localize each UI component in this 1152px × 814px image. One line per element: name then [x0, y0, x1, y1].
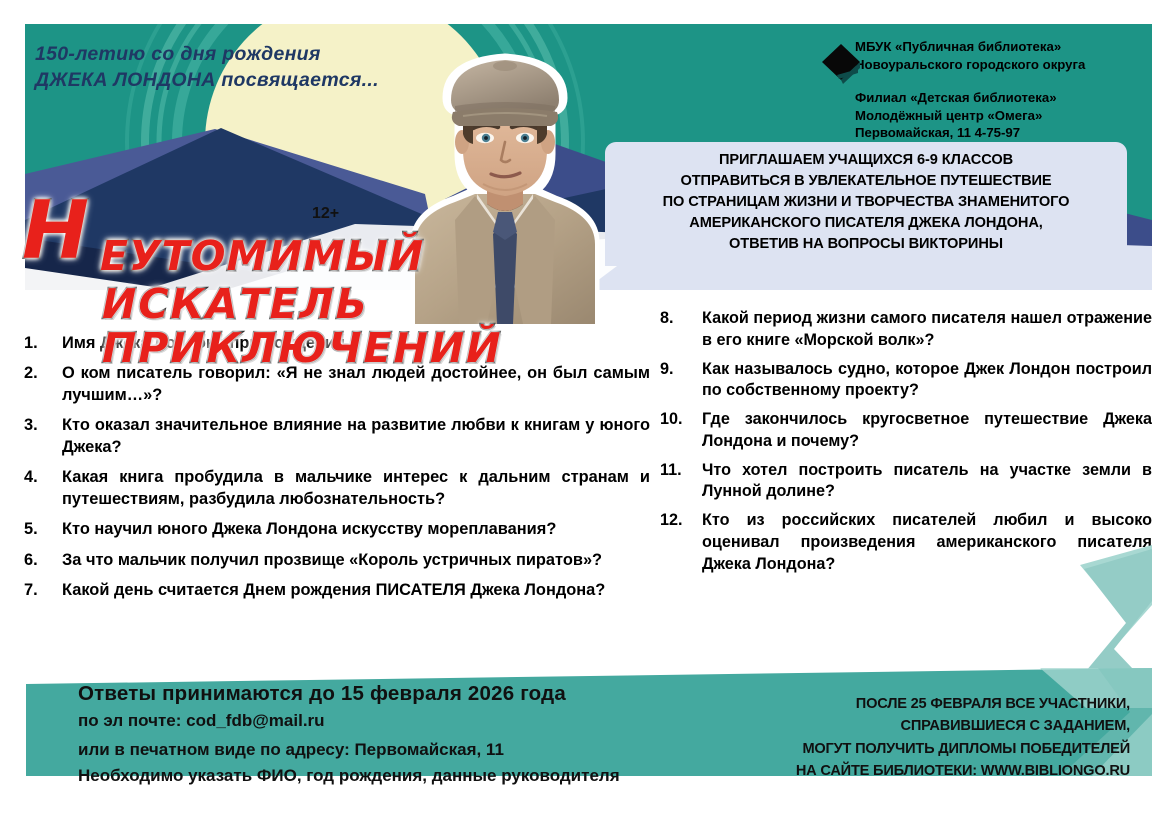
invitation-line-3: ПО СТРАНИЦАМ ЖИЗНИ И ТВОРЧЕСТВА ЗНАМЕНИТ…	[605, 192, 1127, 213]
invitation-line-2: ОТПРАВИТЬСЯ В УВЛЕКАТЕЛЬНОЕ ПУТЕШЕСТВИЕ	[605, 171, 1127, 192]
book-logo-icon	[820, 42, 862, 86]
footer-right-line-3: МОГУТ ПОЛУЧИТЬ ДИПЛОМЫ ПОБЕДИТЕЛЕЙ	[796, 738, 1130, 760]
question-text: Кто оказал значительное влияние на разви…	[62, 414, 650, 458]
age-rating-badge: 12+	[312, 205, 339, 223]
footer-website: НА САЙТЕ БИБЛИОТЕКИ: WWW.BIBLIONGO.RU	[796, 760, 1130, 782]
footer-left-block: Ответы принимаются до 15 февраля 2026 го…	[78, 682, 698, 786]
org-line-5: Первомайская, 11 4-75-97	[855, 124, 1152, 142]
question-number: 1.	[24, 332, 62, 354]
question-number: 11.	[660, 460, 702, 504]
question-item: 8. Какой период жизни самого писателя на…	[660, 308, 1152, 352]
org-line-3: Филиал «Детская библиотека»	[855, 89, 1152, 107]
question-text: Что хотел построить писатель на участке …	[702, 460, 1152, 504]
question-item: 3. Кто оказал значительное влияние на ра…	[24, 414, 650, 458]
question-text: За что мальчик получил прозвище «Король …	[62, 549, 650, 571]
invitation-line-1: ПРИГЛАШАЕМ УЧАЩИХСЯ 6-9 КЛАССОВ	[605, 150, 1127, 171]
footer-address: или в печатном виде по адресу: Первомайс…	[78, 740, 698, 760]
footer-banner: Ответы принимаются до 15 февраля 2026 го…	[0, 668, 1152, 788]
invitation-panel: ПРИГЛАШАЕМ УЧАЩИХСЯ 6-9 КЛАССОВ ОТПРАВИТ…	[605, 142, 1127, 266]
question-number: 3.	[24, 414, 62, 458]
poster-root: 150-летию со дня рождения ДЖЕКА ЛОНДОНА …	[0, 0, 1152, 814]
footer-email: по эл почте: cod_fdb@mail.ru	[78, 711, 698, 731]
question-item: 9. Как называлось судно, которое Джек Ло…	[660, 359, 1152, 403]
question-item: 7. Какой день считается Днем рождения ПИ…	[24, 579, 650, 601]
footer-right-block: ПОСЛЕ 25 ФЕВРАЛЯ ВСЕ УЧАСТНИКИ, СПРАВИВШ…	[796, 693, 1130, 782]
question-item: 5. Кто научил юного Джека Лондона искусс…	[24, 518, 650, 540]
question-number: 5.	[24, 518, 62, 540]
question-text: Какой день считается Днем рождения ПИСАТ…	[62, 579, 650, 601]
invitation-line-5: ОТВЕТИВ НА ВОПРОСЫ ВИКТОРИНЫ	[605, 234, 1127, 255]
question-number: 12.	[660, 510, 702, 575]
org-line-1: МБУК «Публичная библиотека»	[855, 38, 1152, 56]
question-text: Какой период жизни самого писателя нашел…	[702, 308, 1152, 352]
title-sub-words: ИСКАТЕЛЬ ПРИКЛЮЧЕНИЙ	[102, 282, 722, 370]
title-drop-cap: Н	[22, 196, 90, 266]
question-item: 11. Что хотел построить писатель на учас…	[660, 460, 1152, 504]
question-number: 2.	[24, 362, 62, 406]
question-number: 4.	[24, 466, 62, 510]
questions-column-left: 1. Имя Джека Лондона при рождении. 2. О …	[24, 332, 650, 609]
question-number: 10.	[660, 409, 702, 453]
dedication-text: 150-летию со дня рождения ДЖЕКА ЛОНДОНА …	[35, 42, 595, 93]
org-line-4: Молодёжный центр «Омега»	[855, 107, 1152, 125]
question-item: 6. За что мальчик получил прозвище «Коро…	[24, 549, 650, 571]
organization-block: МБУК «Публичная библиотека» Новоуральско…	[855, 38, 1152, 142]
question-item: 4. Какая книга пробудила в мальчике инте…	[24, 466, 650, 510]
footer-right-line-2: СПРАВИВШИЕСЯ С ЗАДАНИЕМ,	[796, 715, 1130, 737]
question-text: Где закончилось кругосветное путешествие…	[702, 409, 1152, 453]
footer-right-line-1: ПОСЛЕ 25 ФЕВРАЛЯ ВСЕ УЧАСТНИКИ,	[796, 693, 1130, 715]
question-number: 6.	[24, 549, 62, 571]
invitation-line-4: АМЕРИКАНСКОГО ПИСАТЕЛЯ ДЖЕКА ЛОНДОНА,	[605, 213, 1127, 234]
question-item: 10. Где закончилось кругосветное путешес…	[660, 409, 1152, 453]
question-number: 7.	[24, 579, 62, 601]
footer-deadline: Ответы принимаются до 15 февраля 2026 го…	[78, 682, 698, 706]
questions-column-right: 8. Какой период жизни самого писателя на…	[660, 308, 1152, 583]
question-text: Кто научил юного Джека Лондона искусству…	[62, 518, 650, 540]
title-main-word: ЕУТОМИМЫЙ	[100, 234, 424, 278]
footer-requirements: Необходимо указать ФИО, год рождения, да…	[78, 766, 698, 786]
question-text: Как называлось судно, которое Джек Лондо…	[702, 359, 1152, 403]
question-text: Какая книга пробудила в мальчике интерес…	[62, 466, 650, 510]
org-line-2: Новоуральского городского округа	[855, 56, 1152, 74]
